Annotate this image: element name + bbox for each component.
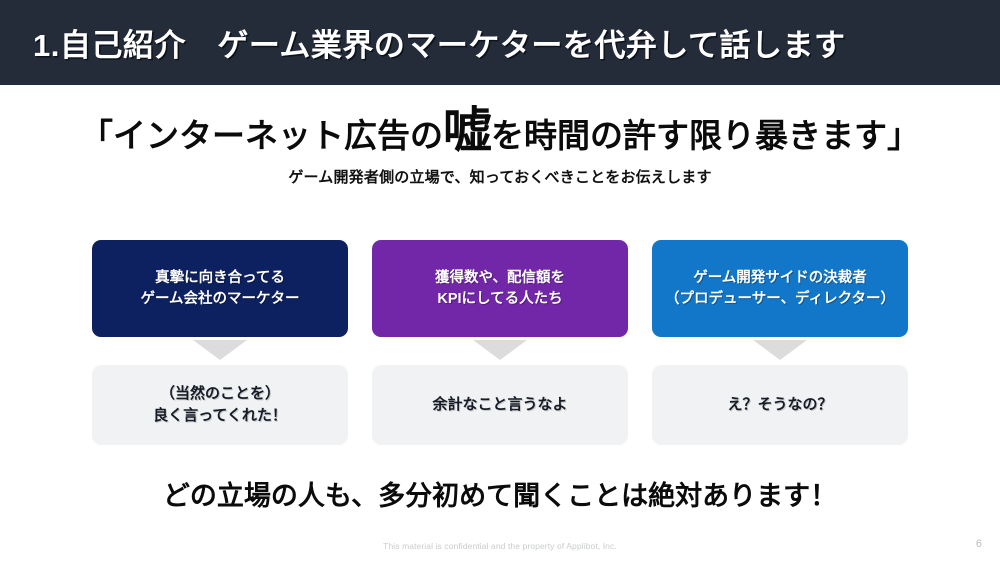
response-box-decisionmaker: え？そうなの？ bbox=[652, 365, 908, 445]
persona-columns: 真摯に向き合ってる ゲーム会社のマーケター （当然のことを） 良く言ってくれた！… bbox=[92, 240, 908, 445]
persona-column-decisionmaker: ゲーム開発サイドの決裁者 （プロデューサー、ディレクター） え？そうなの？ bbox=[652, 240, 908, 445]
headline-emphasis-word: 嘘 bbox=[443, 104, 491, 158]
response-box-label: （当然のことを） 良く言ってくれた！ bbox=[153, 383, 287, 428]
slide-header-bar: 1.自己紹介 ゲーム業界のマーケターを代弁して話します bbox=[0, 0, 1000, 85]
headline-block: 「インターネット広告の嘘を時間の許す限り暴きます」 ゲーム開発者側の立場で、知っ… bbox=[0, 112, 1000, 187]
main-headline: 「インターネット広告の嘘を時間の許す限り暴きます」 bbox=[0, 112, 1000, 152]
persona-column-marketer: 真摯に向き合ってる ゲーム会社のマーケター （当然のことを） 良く言ってくれた！ bbox=[92, 240, 348, 445]
persona-card-label: 真摯に向き合ってる ゲーム会社のマーケター bbox=[140, 268, 299, 309]
headline-text-before: 「インターネット広告の bbox=[80, 117, 443, 154]
arrow-down-icon bbox=[193, 340, 247, 360]
persona-card-marketer: 真摯に向き合ってる ゲーム会社のマーケター bbox=[92, 240, 348, 337]
response-box-marketer: （当然のことを） 良く言ってくれた！ bbox=[92, 365, 348, 445]
persona-card-label: 獲得数や、配信額を KPIにしてる人たち bbox=[435, 268, 565, 309]
persona-card-label: ゲーム開発サイドの決裁者 （プロデューサー、ディレクター） bbox=[665, 268, 895, 309]
arrow-down-icon bbox=[753, 340, 807, 360]
persona-card-kpi: 獲得数や、配信額を KPIにしてる人たち bbox=[372, 240, 628, 337]
slide: 1.自己紹介 ゲーム業界のマーケターを代弁して話します 「インターネット広告の嘘… bbox=[0, 0, 1000, 561]
arrow-down-icon bbox=[473, 340, 527, 360]
headline-text-after: を時間の許す限り暴きます」 bbox=[491, 117, 920, 154]
page-number: 6 bbox=[976, 538, 982, 550]
persona-card-decisionmaker: ゲーム開発サイドの決裁者 （プロデューサー、ディレクター） bbox=[652, 240, 908, 337]
response-box-label: え？そうなの？ bbox=[727, 394, 832, 417]
confidential-footer: This material is confidential and the pr… bbox=[0, 541, 1000, 551]
response-box-label: 余計なこと言うなよ bbox=[432, 394, 567, 417]
page-title: 1.自己紹介 ゲーム業界のマーケターを代弁して話します bbox=[33, 20, 846, 65]
closing-message: どの立場の人も、多分初めて聞くことは絶対あります！ bbox=[0, 474, 1000, 513]
persona-column-kpi: 獲得数や、配信額を KPIにしてる人たち 余計なこと言うなよ bbox=[372, 240, 628, 445]
headline-subtitle: ゲーム開発者側の立場で、知っておくべきことをお伝えします bbox=[0, 166, 1000, 187]
response-box-kpi: 余計なこと言うなよ bbox=[372, 365, 628, 445]
